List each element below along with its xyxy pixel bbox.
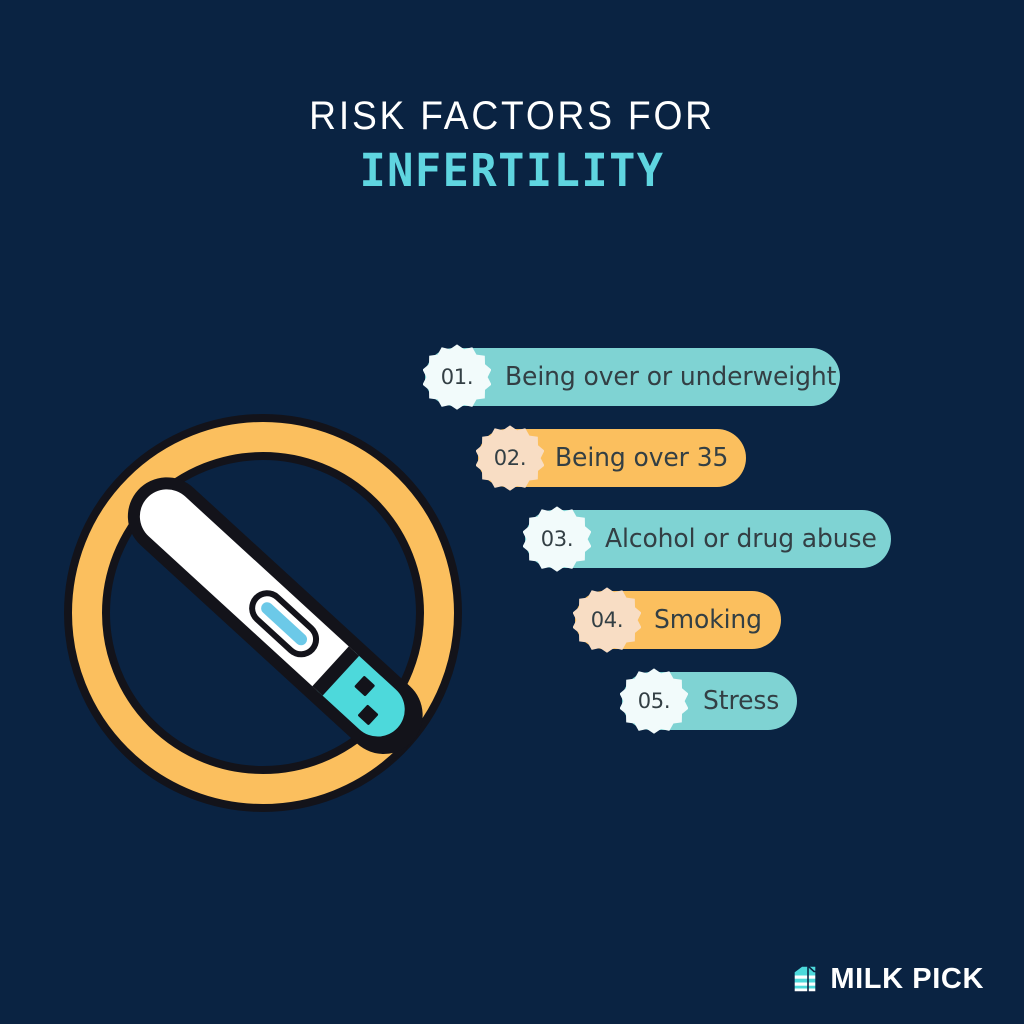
list-item[interactable]: Stress 05. [622,672,797,730]
list-item-label: Smoking [654,591,762,649]
list-item-number-badge: 05. [620,667,688,735]
title-line-accent: INFERTILITY [15,148,1008,193]
list-item-label: Alcohol or drug abuse [605,510,877,568]
list-item-number-badge: 03. [523,505,591,573]
milk-carton-icon [789,962,821,996]
risk-factor-list: Being over or underweight 01. Being over… [0,348,1024,748]
list-item-label: Being over 35 [555,429,728,487]
page-title: RISK FACTORS FOR INFERTILITY [0,96,1024,193]
list-item-number: 02. [476,424,544,492]
list-item-number: 04. [573,586,641,654]
list-item-label: Being over or underweight [505,348,836,406]
list-item-number-badge: 04. [573,586,641,654]
list-item-number-badge: 01. [423,343,491,411]
list-item-number: 01. [423,343,491,411]
list-item-label: Stress [703,672,779,730]
brand-logo[interactable]: MILK PICK [789,962,984,996]
brand-name: MILK PICK [830,963,984,996]
list-item[interactable]: Being over 35 02. [478,429,746,487]
list-item-number-badge: 02. [476,424,544,492]
list-item[interactable]: Alcohol or drug abuse 03. [525,510,891,568]
list-item-number: 03. [523,505,591,573]
list-item-number: 05. [620,667,688,735]
list-item[interactable]: Being over or underweight 01. [425,348,840,406]
list-item[interactable]: Smoking 04. [575,591,781,649]
title-line-primary: RISK FACTORS FOR [36,96,988,136]
infographic-canvas: RISK FACTORS FOR INFERTILITY [0,0,1024,1024]
